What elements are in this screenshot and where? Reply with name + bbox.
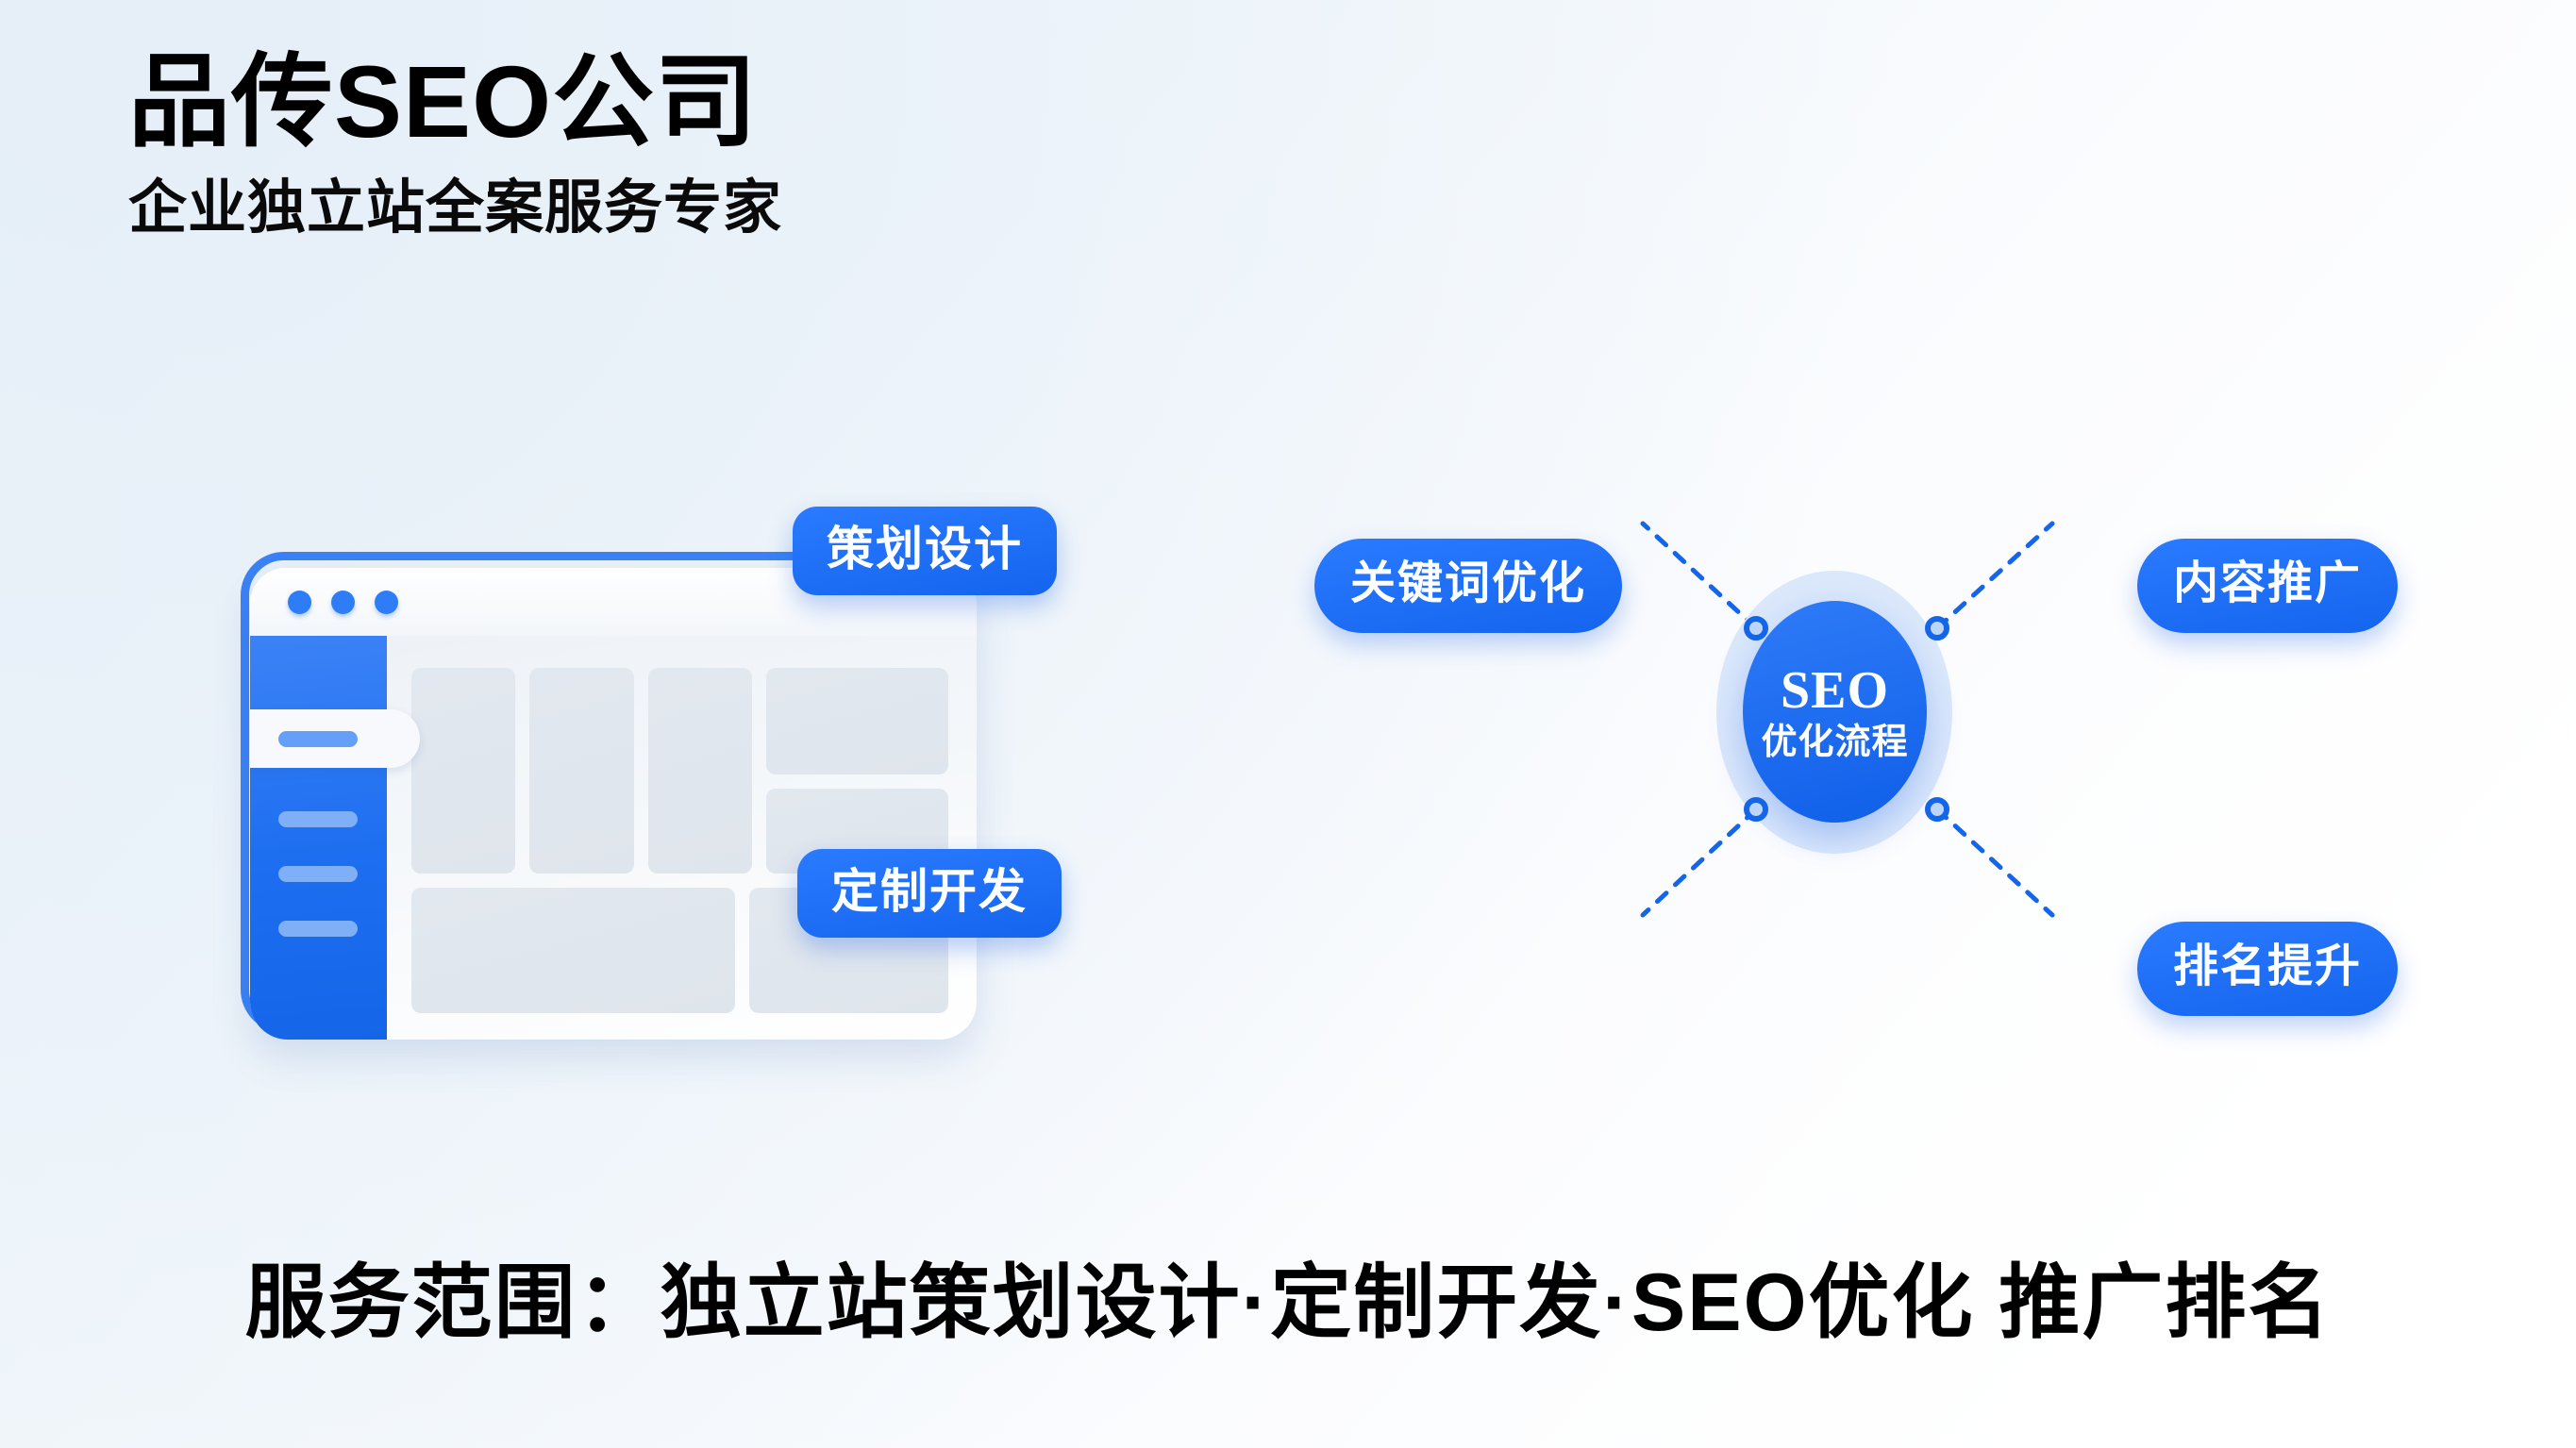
sidebar-item-bar-icon (278, 811, 358, 827)
traffic-light-dot-icon (288, 591, 311, 614)
sidebar-item-bar-icon (278, 866, 358, 882)
seo-core-subtitle: 优化流程 (1761, 724, 1908, 760)
content-row-top (411, 668, 948, 874)
browser-body (250, 636, 977, 1040)
connector-line-top-left (1643, 524, 1756, 628)
browser-window-card (250, 568, 977, 1040)
seo-node-bottom-right-icon (1925, 797, 1949, 822)
header-block: 品传SEO公司 企业独立站全案服务专家 (128, 45, 1355, 241)
badge-content-promotion: 内容推广 (2137, 539, 2398, 633)
content-panel (411, 888, 735, 1013)
poster-canvas: 品传SEO公司 企业独立站全案服务专家 (0, 0, 2576, 1448)
sidebar-item-bar-icon (278, 921, 358, 937)
page-title: 品传SEO公司 (128, 45, 1355, 159)
traffic-light-dot-icon (375, 591, 398, 614)
sidebar-nav (250, 636, 387, 1040)
seo-core-circle: SEO 优化流程 (1743, 601, 1927, 823)
seo-node-top-left-icon (1744, 616, 1768, 641)
traffic-light-dot-icon (331, 591, 355, 614)
seo-node-top-right-icon (1925, 616, 1949, 641)
content-panel (529, 668, 633, 874)
connector-line-bottom-right (1937, 809, 2052, 915)
seo-node-bottom-left-icon (1744, 797, 1768, 822)
sidebar-active-bar-icon (278, 731, 358, 747)
content-area (387, 636, 977, 1040)
footer-block: 服务范围：独立站策划设计·定制开发·SEO优化 推广排名 (0, 1255, 2576, 1352)
seo-core-title: SEO (1781, 664, 1889, 717)
connector-line-bottom-left (1643, 809, 1756, 915)
content-panel (766, 668, 948, 774)
badge-planning-design: 策划设计 (793, 507, 1057, 595)
seo-process-diagram: SEO 优化流程 关键词优化 内容推广 排名提升 (1307, 514, 2505, 1080)
service-scope-text: 服务范围：独立站策划设计·定制开发·SEO优化 推广排名 (245, 1255, 2332, 1352)
connector-line-top-right (1937, 524, 2052, 628)
badge-custom-development: 定制开发 (797, 849, 1062, 938)
content-panel (411, 668, 515, 874)
content-panel (648, 668, 752, 874)
page-subtitle: 企业独立站全案服务专家 (128, 175, 1355, 241)
content-column-right (766, 668, 948, 874)
badge-ranking-improvement: 排名提升 (2137, 922, 2398, 1016)
badge-keyword-optimization: 关键词优化 (1314, 539, 1622, 633)
sidebar-item-active (250, 709, 420, 768)
browser-mockup-illustration: 策划设计 定制开发 (241, 552, 1071, 1052)
